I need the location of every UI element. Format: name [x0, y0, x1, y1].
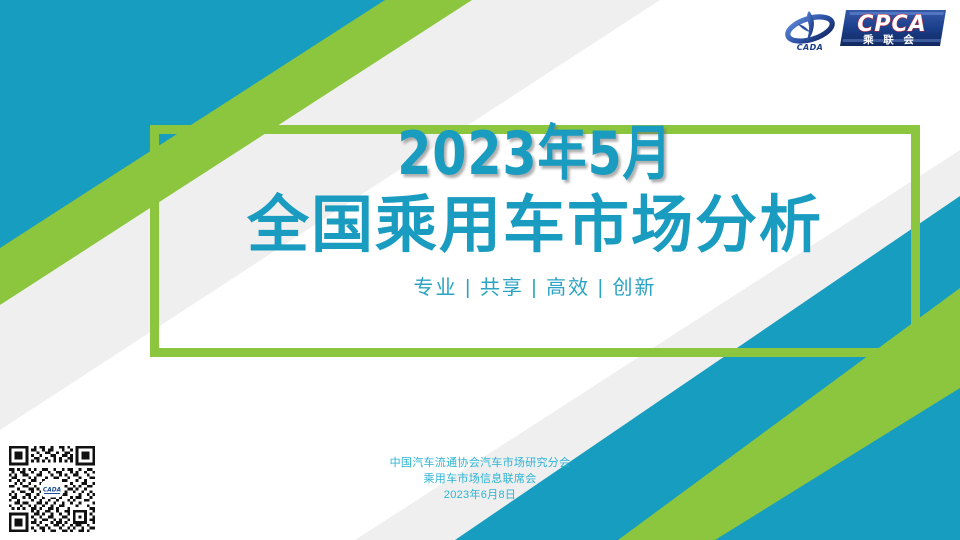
logo-chinese-name: 乘 联 会: [862, 33, 917, 46]
cada-emblem-icon: CADA: [785, 11, 835, 52]
page-subtitle: 专业 | 共享 | 高效 | 创新: [414, 275, 657, 301]
footer-organization: 中国汽车流通协会汽车市场研究分会: [0, 455, 960, 471]
qr-center-badge: CADA: [41, 481, 63, 498]
page-title-secondary: 全国乘用车市场分析: [247, 187, 823, 263]
cpca-banner: CPCA 乘 联 会: [840, 10, 946, 46]
page-title-primary: 2023年5月: [397, 117, 672, 191]
slide-root: 2023年5月 全国乘用车市场分析 专业 | 共享 | 高效 | 创新 中国汽车…: [0, 0, 960, 540]
qr-code: CADA: [6, 443, 98, 535]
cpca-logo: CADA CPCA 乘 联 会: [784, 6, 946, 58]
emblem-acronym: CADA: [797, 43, 824, 52]
qr-center-label: CADA: [43, 488, 62, 494]
footer-committee: 乘用车市场信息联席会: [0, 471, 960, 487]
footer-date: 2023年6月8日: [0, 487, 960, 503]
footer-block: 中国汽车流通协会汽车市场研究分会 乘用车市场信息联席会 2023年6月8日: [0, 455, 960, 503]
title-block: 2023年5月 全国乘用车市场分析 专业 | 共享 | 高效 | 创新: [150, 125, 920, 357]
